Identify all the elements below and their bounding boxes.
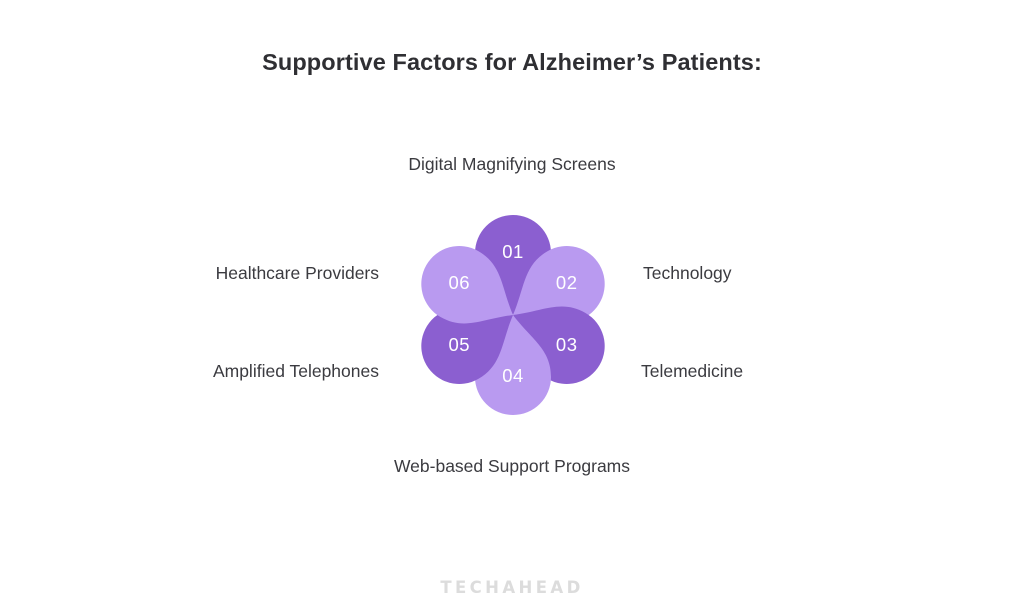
petal-06-number: 06: [449, 272, 471, 293]
petal-04-number: 04: [502, 365, 524, 386]
petal-label-03: Telemedicine: [641, 359, 743, 383]
petal-01-number: 01: [502, 241, 524, 262]
petal-label-04: Web-based Support Programs: [0, 454, 1024, 478]
petal-label-01: Digital Magnifying Screens: [0, 152, 1024, 176]
petal-label-02: Technology: [643, 261, 732, 285]
flower-diagram: 01 02 03 04 05 06 Digital Magnifying Scr…: [0, 0, 1024, 609]
petal-label-06: Healthcare Providers: [216, 261, 379, 285]
petal-label-05: Amplified Telephones: [213, 359, 379, 383]
petal-chart-svg: 01 02 03 04 05 06: [363, 165, 663, 465]
techahead-watermark: TECHAHEAD: [0, 578, 1024, 597]
petal-05-number: 05: [449, 334, 471, 355]
petal-03-number: 03: [556, 334, 578, 355]
petal-02-number: 02: [556, 272, 578, 293]
